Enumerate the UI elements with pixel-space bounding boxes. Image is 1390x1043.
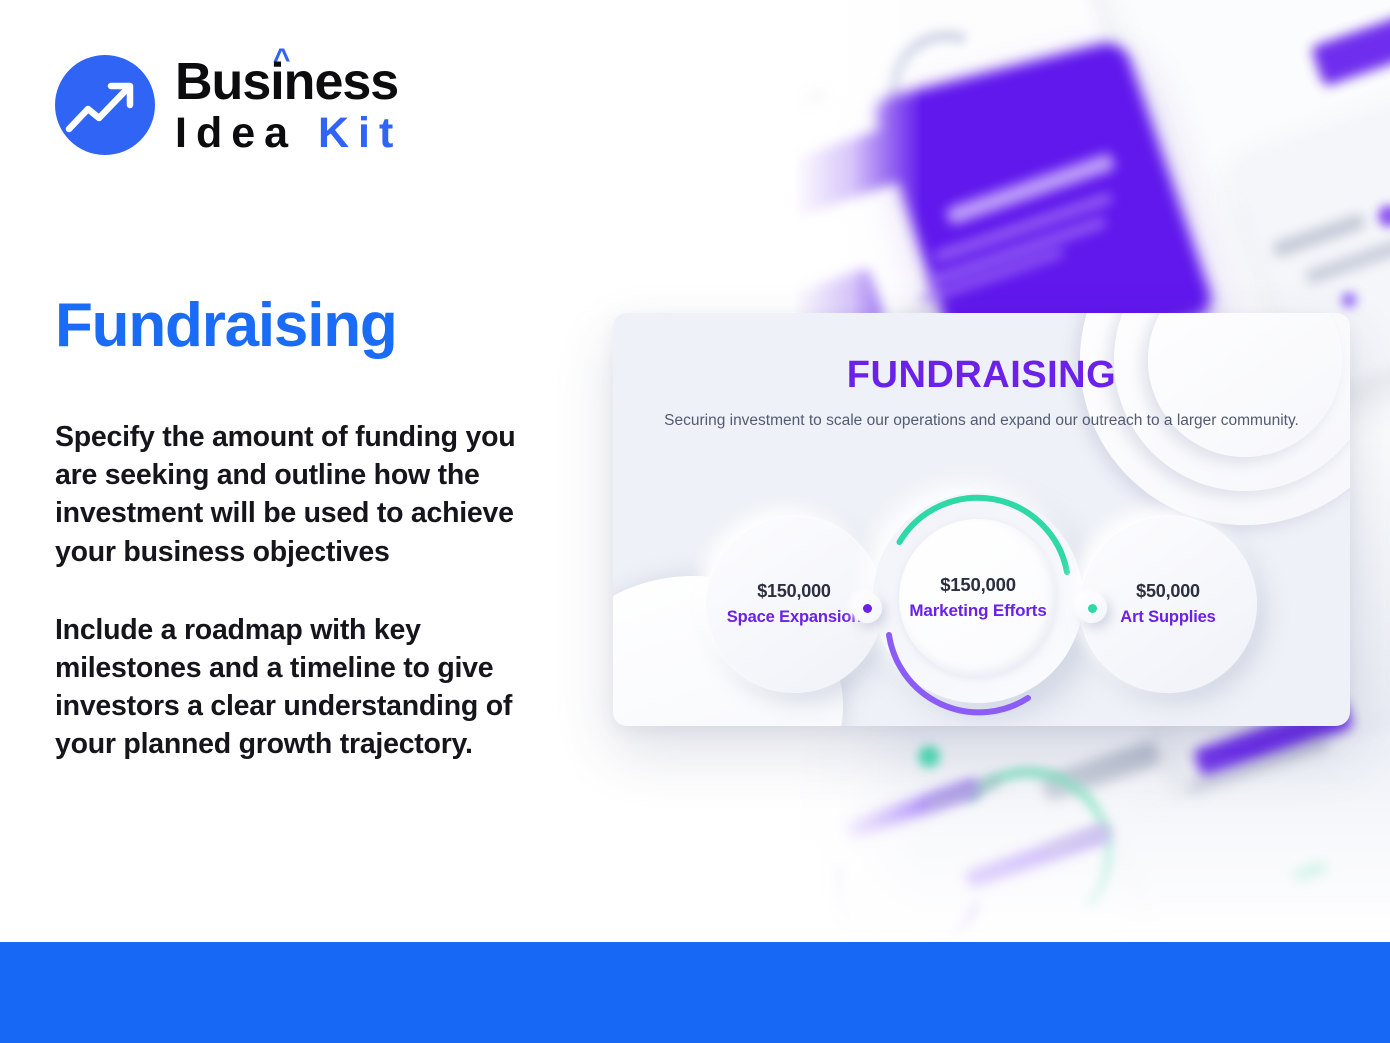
brand-wordmark: Business ^ Idea Kit xyxy=(175,56,402,155)
slide-page: Business ^ Idea Kit Fundraising Specify … xyxy=(0,0,1390,1043)
allocation-label: Marketing Efforts xyxy=(909,602,1046,621)
body-copy: Specify the amount of funding you are se… xyxy=(55,418,565,764)
paragraph-1: Specify the amount of funding you are se… xyxy=(55,418,565,571)
fundraising-card: FUNDRAISING Securing investment to scale… xyxy=(613,313,1350,726)
page-title: Fundraising xyxy=(55,295,397,357)
left-content-column: Business ^ Idea Kit Fundraising Specify … xyxy=(0,0,600,942)
allocation-circle-marketing-efforts[interactable]: $150,000 Marketing Efforts xyxy=(865,485,1091,725)
connector-node-left xyxy=(852,593,882,623)
footer-bar xyxy=(0,942,1390,1043)
allocation-amount: $50,000 xyxy=(1136,582,1200,602)
allocation-amount: $150,000 xyxy=(940,575,1016,595)
mockup-purple-bar xyxy=(1311,0,1390,87)
brand-idea-text: Idea xyxy=(175,109,318,157)
card-subtitle: Securing investment to scale our operati… xyxy=(613,410,1350,431)
brand-line-idea-kit: Idea Kit xyxy=(175,112,402,155)
node-dot-purple xyxy=(863,604,872,613)
paragraph-2: Include a roadmap with key milestones an… xyxy=(55,611,565,764)
connector-node-right xyxy=(1077,593,1107,623)
allocation-amount: $150,000 xyxy=(757,582,830,602)
caret-accent-icon: ^ xyxy=(273,45,290,75)
growth-arrow-circle-icon xyxy=(55,55,155,155)
backdrop-bottom-fade xyxy=(793,752,1390,942)
allocation-label: Art Supplies xyxy=(1120,608,1215,626)
node-dot-green xyxy=(1088,604,1097,613)
mockup-dot xyxy=(1341,292,1357,308)
brand-logo: Business ^ Idea Kit xyxy=(55,55,402,155)
center-circle-inner: $150,000 Marketing Efforts xyxy=(899,519,1057,677)
brand-kit-text: Kit xyxy=(318,109,402,157)
brand-line-business: Business ^ xyxy=(175,56,402,108)
card-title: FUNDRAISING xyxy=(613,354,1350,397)
allocation-label: Space Expansion xyxy=(727,608,861,626)
allocation-circles-row: $150,000 Space Expansion $150,000 Market… xyxy=(613,493,1350,723)
